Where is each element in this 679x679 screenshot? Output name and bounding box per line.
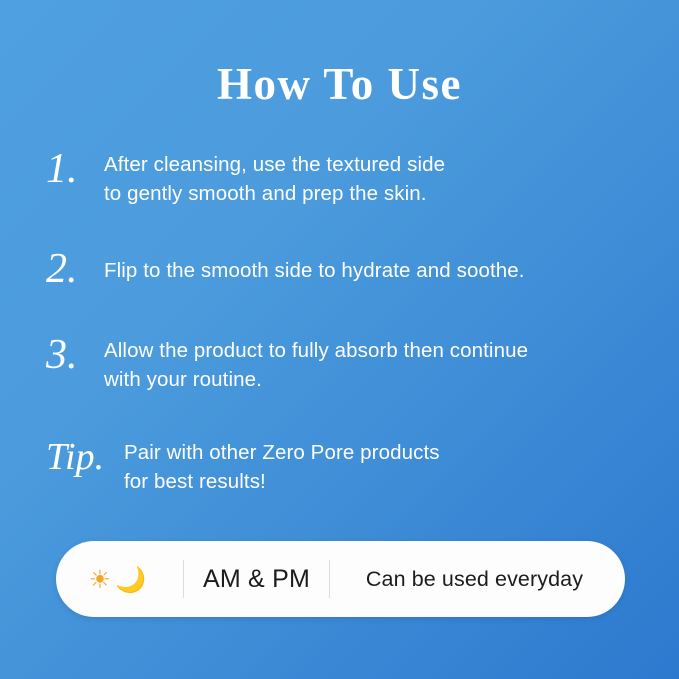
list-item-tip: Tip. Pair with other Zero Pore products … (46, 432, 646, 506)
page-title: How To Use (0, 60, 679, 110)
list-item: 2. Flip to the smooth side to hydrate an… (46, 248, 646, 304)
step-marker-tip: Tip. (46, 432, 124, 476)
step-text-tip: Pair with other Zero Pore products for b… (124, 432, 646, 496)
list-item: 1. After cleansing, use the textured sid… (46, 144, 646, 218)
step-text-2: Flip to the smooth side to hydrate and s… (104, 248, 646, 285)
usage-icons: ☀🌙 (56, 567, 183, 592)
how-to-use-card: How To Use 1. After cleansing, use the t… (0, 0, 679, 679)
step-text-1-line-2: to gently smooth and prep the skin. (104, 179, 646, 208)
moon-icon: 🌙 (115, 565, 150, 594)
steps-list: 1. After cleansing, use the textured sid… (46, 144, 646, 506)
step-marker-2: 2. (46, 248, 104, 290)
step-text-2-line-1: Flip to the smooth side to hydrate and s… (104, 256, 646, 285)
step-text-1-line-1: After cleansing, use the textured side (104, 150, 646, 179)
usage-bar: ☀🌙 AM & PM Can be used everyday (56, 541, 625, 617)
step-text-3-line-2: with your routine. (104, 365, 646, 394)
sun-icon: ☀ (89, 565, 115, 594)
step-marker-3: 3. (46, 330, 104, 376)
usage-frequency-label: Can be used everyday (330, 567, 625, 592)
usage-time-label: AM & PM (184, 565, 329, 594)
step-text-3: Allow the product to fully absorb then c… (104, 330, 646, 394)
step-text-tip-line-2: for best results! (124, 467, 646, 496)
step-text-3-line-1: Allow the product to fully absorb then c… (104, 336, 646, 365)
step-text-1: After cleansing, use the textured side t… (104, 144, 646, 208)
step-marker-1: 1. (46, 144, 104, 190)
list-item: 3. Allow the product to fully absorb the… (46, 330, 646, 404)
step-text-tip-line-1: Pair with other Zero Pore products (124, 438, 646, 467)
